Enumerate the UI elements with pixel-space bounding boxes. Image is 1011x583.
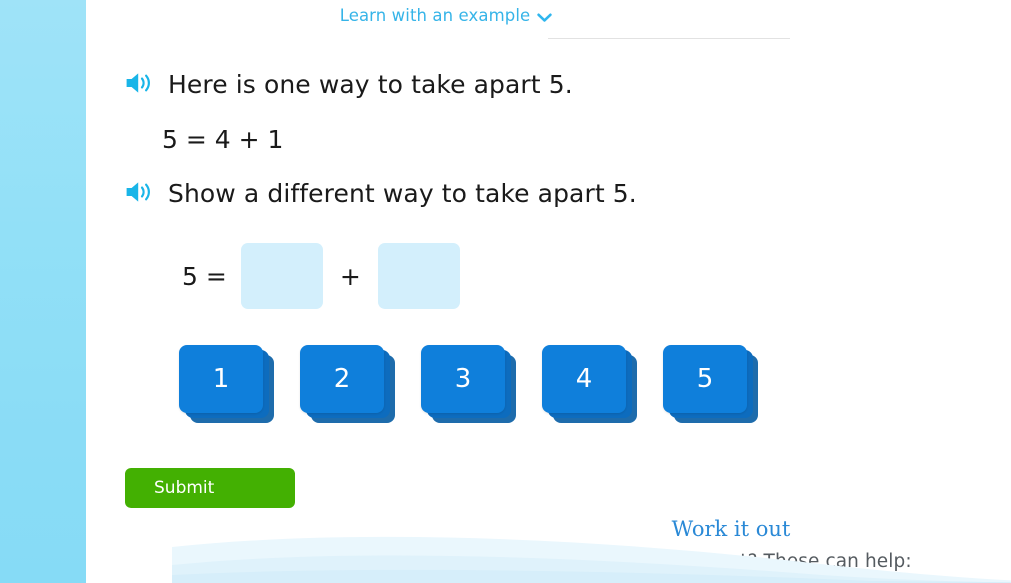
tile-face: 5 (663, 345, 747, 413)
left-sidebar-panel (0, 0, 86, 583)
chevron-down-icon (537, 8, 552, 27)
tile-face: 2 (300, 345, 384, 413)
number-tile-4[interactable]: 4 (542, 345, 626, 413)
header-divider (548, 38, 790, 39)
lesson-screen: Learn with an example Here is one way to… (0, 0, 1011, 583)
tile-face: 3 (421, 345, 505, 413)
answer-blank-2[interactable] (378, 243, 460, 309)
speaker-icon-line1[interactable] (125, 71, 155, 95)
answer-equation-row: 5 = + (182, 243, 460, 309)
number-tile-5[interactable]: 5 (663, 345, 747, 413)
question-line-1: Here is one way to take apart 5. (168, 70, 573, 99)
number-tile-2[interactable]: 2 (300, 345, 384, 413)
tile-face: 1 (179, 345, 263, 413)
example-equation: 5 = 4 + 1 (162, 125, 283, 154)
speaker-icon (125, 71, 155, 95)
number-tile-3[interactable]: 3 (421, 345, 505, 413)
work-it-out-link[interactable]: Work it out (86, 517, 1011, 541)
tile-face: 4 (542, 345, 626, 413)
learn-with-example-label: Learn with an example (340, 6, 531, 25)
question-line-2: Show a different way to take apart 5. (168, 179, 637, 208)
submit-button[interactable]: Submit (125, 468, 295, 508)
main-content: Learn with an example Here is one way to… (86, 0, 1011, 583)
learn-with-example-row: Learn with an example (86, 0, 806, 25)
learn-with-example-link[interactable]: Learn with an example (340, 6, 553, 25)
answer-blank-1[interactable] (241, 243, 323, 309)
speaker-icon (125, 180, 155, 204)
answer-left-operand: 5 = (182, 262, 227, 291)
number-tile-1[interactable]: 1 (179, 345, 263, 413)
answer-plus-operator: + (340, 262, 361, 291)
number-tile-tray: 1 2 3 4 5 (179, 345, 747, 413)
help-prompt-text: Not feeling ready yet? These can help: (86, 551, 1011, 572)
speaker-icon-line2[interactable] (125, 180, 155, 204)
